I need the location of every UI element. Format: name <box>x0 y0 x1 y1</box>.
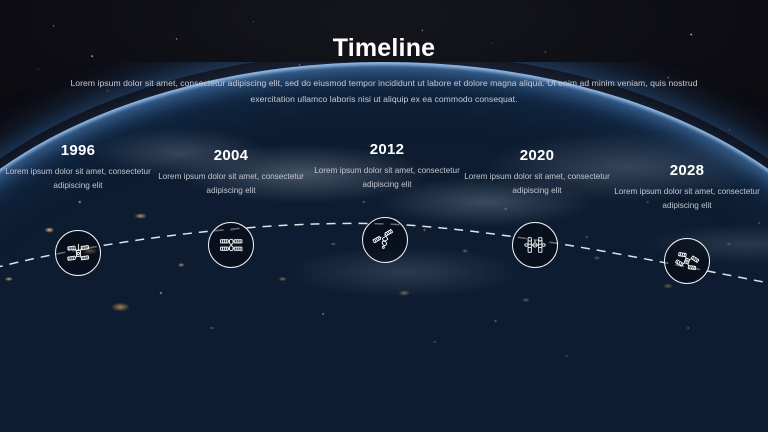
timeline-item-2012[interactable]: 2012 Lorem ipsum dolor sit amet, consect… <box>302 141 472 191</box>
timeline-description: Lorem ipsum dolor sit amet, consectetur … <box>452 170 622 197</box>
timeline-marker-2020[interactable] <box>512 222 558 268</box>
timeline-item-2020[interactable]: 2020 Lorem ipsum dolor sit amet, consect… <box>452 147 622 197</box>
slide-header: Timeline Lorem ipsum dolor sit amet, con… <box>0 0 768 108</box>
timeline-marker-2012[interactable] <box>362 217 408 263</box>
satellite-icon <box>65 240 91 266</box>
timeline-description: Lorem ipsum dolor sit amet, consectetur … <box>302 164 472 191</box>
timeline-year-label: 1996 <box>0 142 163 159</box>
page-subtitle: Lorem ipsum dolor sit amet, consectetur … <box>64 76 704 108</box>
timeline-marker-1996[interactable] <box>55 230 101 276</box>
timeline-marker-2004[interactable] <box>208 222 254 268</box>
page-title: Timeline <box>0 34 768 63</box>
timeline-description: Lorem ipsum dolor sit amet, consectetur … <box>0 165 163 192</box>
timeline-year-label: 2028 <box>602 162 768 179</box>
timeline-marker-2028[interactable] <box>664 238 710 284</box>
timeline-description: Lorem ipsum dolor sit amet, consectetur … <box>602 185 768 212</box>
satellite-icon <box>372 227 398 253</box>
timeline-year-label: 2020 <box>452 147 622 164</box>
timeline-item-1996[interactable]: 1996 Lorem ipsum dolor sit amet, consect… <box>0 142 163 192</box>
satellite-icon <box>674 248 700 274</box>
satellite-icon <box>218 232 244 258</box>
timeline-slide: Timeline Lorem ipsum dolor sit amet, con… <box>0 0 768 432</box>
timeline-year-label: 2004 <box>146 147 316 164</box>
space-station-icon <box>522 232 548 258</box>
timeline-item-2004[interactable]: 2004 Lorem ipsum dolor sit amet, consect… <box>146 147 316 197</box>
timeline-description: Lorem ipsum dolor sit amet, consectetur … <box>146 170 316 197</box>
timeline-year-label: 2012 <box>302 141 472 158</box>
timeline-item-2028[interactable]: 2028 Lorem ipsum dolor sit amet, consect… <box>602 162 768 212</box>
